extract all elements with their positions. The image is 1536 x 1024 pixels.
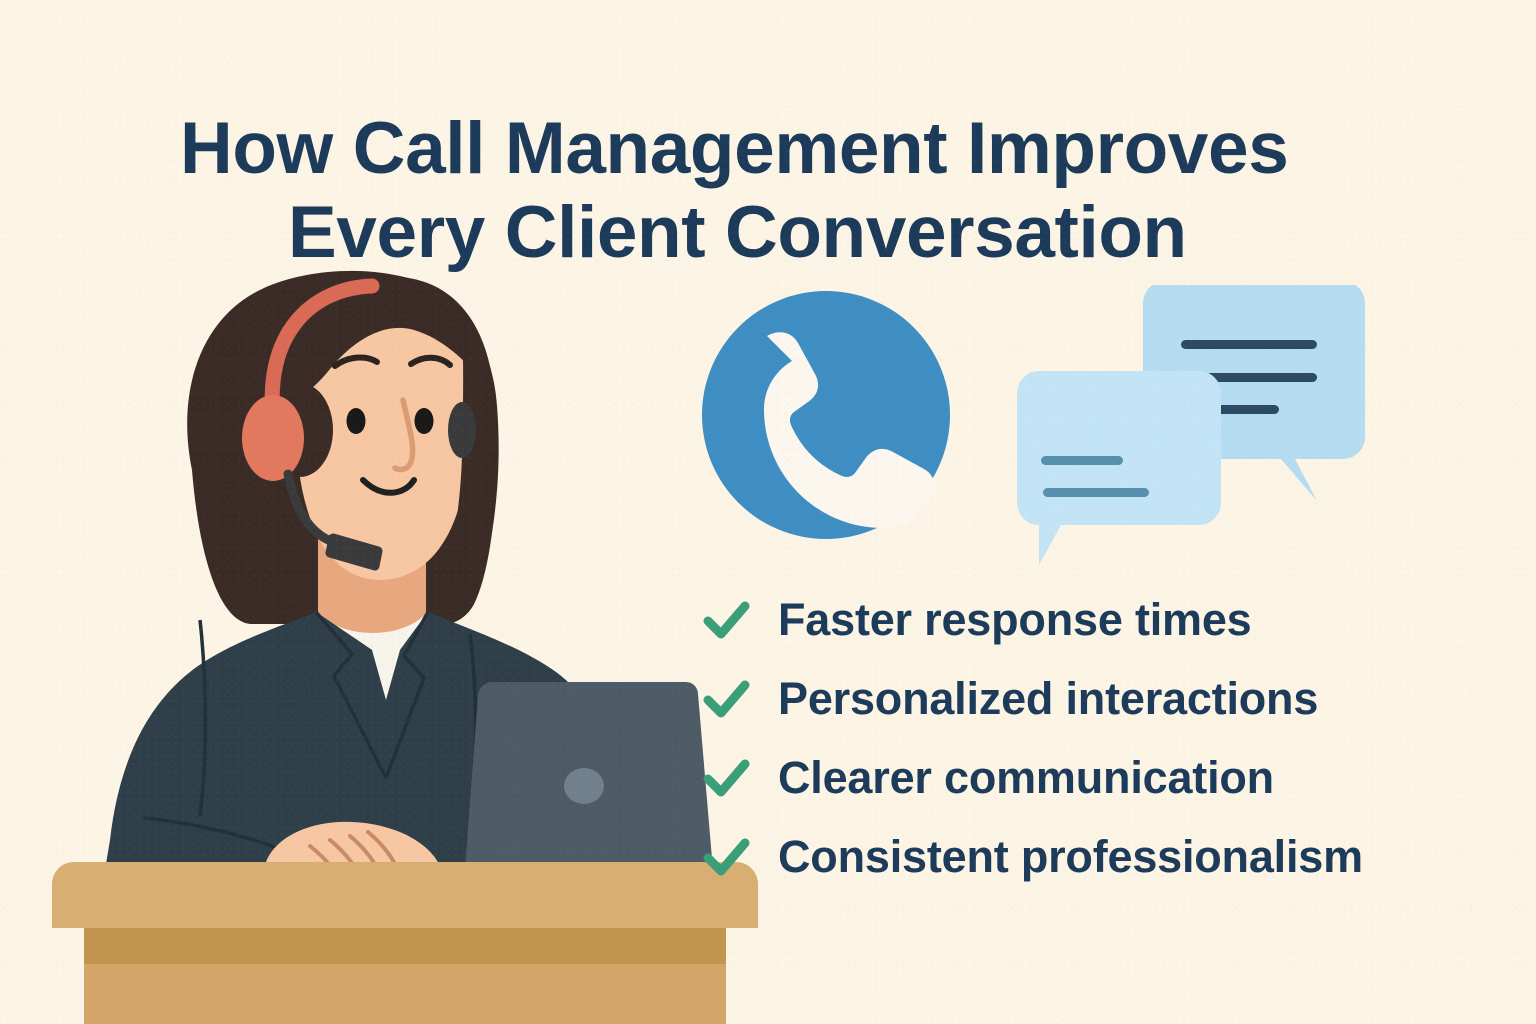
list-item: Consistent professionalism	[700, 817, 1500, 896]
headset-earcup-right-shape	[448, 402, 476, 458]
desk-front-shape	[84, 964, 726, 1024]
speech-bubbles-group	[995, 285, 1415, 575]
phone-badge	[700, 289, 952, 541]
speech-bubble-front-shape	[1017, 371, 1221, 565]
speech-bubble-back-line-1	[1181, 340, 1317, 349]
benefit-label: Clearer communication	[778, 752, 1274, 804]
desk-top-shape	[52, 862, 758, 928]
speech-bubble-front	[1017, 371, 1221, 565]
eye-right	[415, 408, 434, 434]
infographic-canvas: How Call Management ImprovesEvery Client…	[0, 0, 1536, 1024]
check-icon	[700, 673, 752, 725]
page-title-line-1: How Call Management Improves	[180, 107, 1440, 191]
page-title: How Call Management ImprovesEvery Client…	[180, 107, 1440, 275]
desk-band-shape	[84, 928, 726, 964]
benefit-label: Faster response times	[778, 594, 1252, 646]
laptop-logo-icon	[564, 768, 604, 804]
benefit-label: Personalized interactions	[778, 673, 1318, 725]
page-title-line-2: Every Client Conversation	[180, 191, 1440, 275]
headset-earcup-shape	[242, 395, 304, 481]
check-icon	[700, 752, 752, 804]
benefit-label: Consistent professionalism	[778, 831, 1363, 883]
check-icon	[700, 594, 752, 646]
speech-bubble-front-line-2	[1043, 488, 1149, 497]
benefits-list: Faster response times Personalized inter…	[700, 580, 1500, 896]
eye-left	[347, 408, 366, 434]
check-icon	[700, 831, 752, 883]
list-item: Personalized interactions	[700, 659, 1500, 738]
list-item: Clearer communication	[700, 738, 1500, 817]
speech-bubble-front-line-1	[1041, 456, 1123, 465]
list-item: Faster response times	[700, 580, 1500, 659]
